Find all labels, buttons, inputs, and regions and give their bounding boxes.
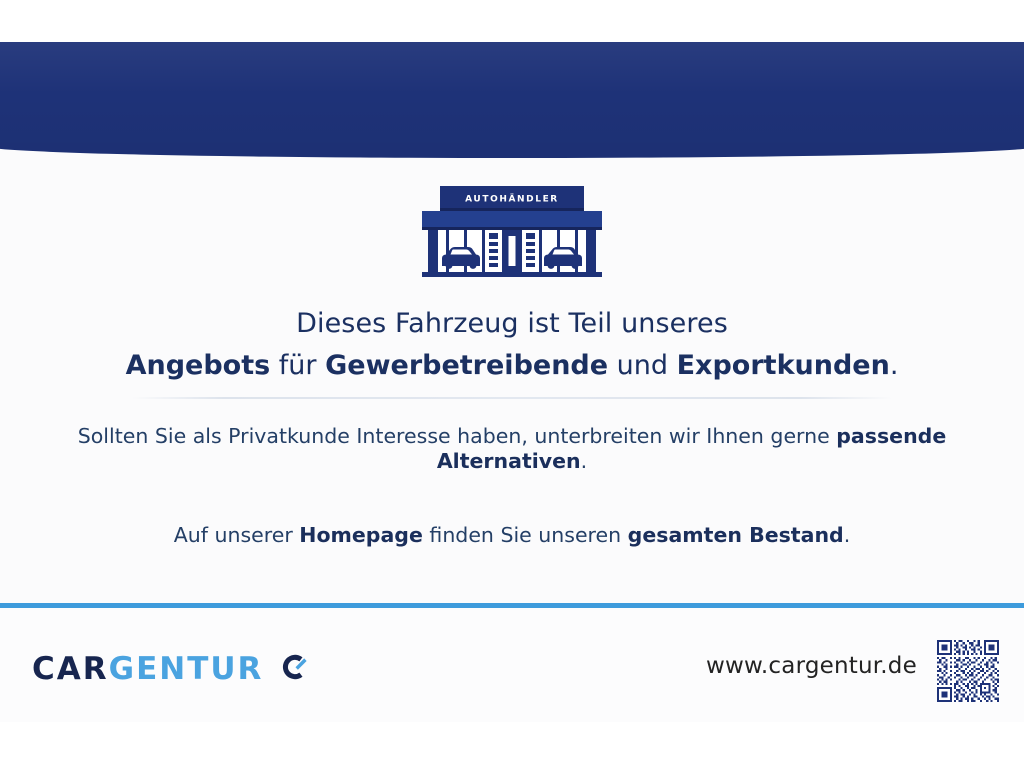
car-dealership-icon: AUTOHÄNDLER [416, 186, 608, 278]
paragraph1-text-1: Sollten Sie als Privatkunde Interesse ha… [78, 424, 837, 448]
paragraph1-text-2: . [581, 449, 588, 473]
body-copy-block: Sollten Sie als Privatkunde Interesse ha… [0, 424, 1024, 548]
paragraph-homepage: Auf unserer Homepage finden Sie unseren … [0, 523, 1024, 548]
logo-text-gentur: GENTUR [109, 651, 264, 687]
headline-bold-exportkunden: Exportkunden [677, 350, 890, 381]
paragraph2-bold-gesamten-bestand: gesamten Bestand [628, 523, 844, 547]
cargentur-logo[interactable]: CARGENTUR [32, 650, 310, 688]
header-banner [0, 42, 1024, 158]
top-white-strip [0, 0, 1024, 42]
headline-text-fuer: für [270, 350, 325, 381]
headline-block: Dieses Fahrzeug ist Teil unseres Angebot… [0, 304, 1024, 388]
paragraph2-text-2: finden Sie unseren [423, 523, 628, 547]
headline-line-1: Dieses Fahrzeug ist Teil unseres [0, 304, 1024, 344]
logo-wordmark: CARGENTUR [32, 653, 263, 685]
paragraph2-text-1: Auf unserer [174, 523, 300, 547]
section-divider [132, 397, 892, 399]
banner-sheen [0, 42, 1024, 158]
dealership-illustration-wrap: AUTOHÄNDLER [0, 186, 1024, 278]
paragraph2-bold-homepage: Homepage [299, 523, 423, 547]
advertisement-card-page: AUTOHÄNDLER [0, 0, 1024, 768]
headline-line-2: Angebots für Gewerbetreibende und Export… [0, 344, 1024, 388]
paragraph-private-customers: Sollten Sie als Privatkunde Interesse ha… [0, 424, 1024, 474]
info-card: AUTOHÄNDLER [0, 0, 1024, 722]
logo-text-car: CAR [32, 651, 109, 687]
headline-bold-gewerbetreibende: Gewerbetreibende [325, 350, 608, 381]
headline-period: . [890, 350, 899, 381]
website-url[interactable]: www.cargentur.de [706, 653, 917, 679]
headline-text-und: und [608, 350, 677, 381]
paragraph2-text-3: . [844, 523, 851, 547]
headline-bold-angebots: Angebots [126, 350, 271, 381]
dealership-sign-label: AUTOHÄNDLER [465, 194, 559, 205]
c-monogram-icon [276, 650, 310, 688]
qr-code-icon[interactable] [937, 640, 999, 702]
